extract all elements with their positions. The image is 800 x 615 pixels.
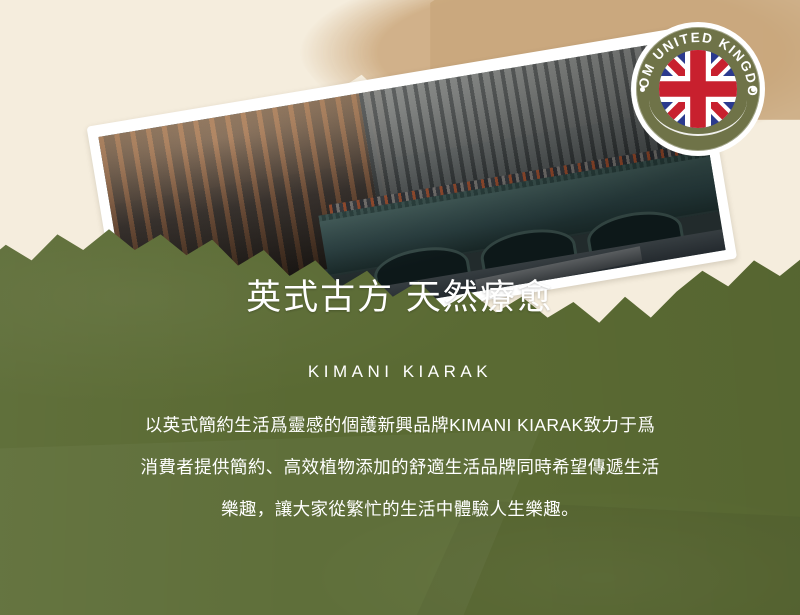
union-jack-flag-icon: [659, 50, 737, 128]
from-united-kingdom-badge: FROM UNITED KINGDOM: [631, 22, 765, 156]
banner-stage: FROM UNITED KINGDOM 英式古方 天然療愈 KIMANI KIA…: [0, 0, 800, 615]
brand-name: KIMANI KIARAK: [0, 362, 800, 382]
description-line-3: 樂趣，讓大家從繁忙的生活中體驗人生樂趣。: [60, 488, 740, 530]
description-line-2: 消費者提供簡約、高效植物添加的舒適生活品牌同時希望傳遞生活: [60, 446, 740, 488]
brand-description: 以英式簡約生活爲靈感的個護新興品牌KIMANI KIARAK致力于爲 消費者提供…: [60, 404, 740, 530]
badge-dot-right-icon: [751, 87, 756, 92]
text-content-block: 英式古方 天然療愈 KIMANI KIARAK 以英式簡約生活爲靈感的個護新興品…: [0, 276, 800, 530]
description-line-1: 以英式簡約生活爲靈感的個護新興品牌KIMANI KIARAK致力于爲: [60, 404, 740, 446]
union-jack-svg: [659, 50, 737, 128]
badge-dot-left-icon: [640, 87, 645, 92]
page-title: 英式古方 天然療愈: [0, 276, 800, 320]
